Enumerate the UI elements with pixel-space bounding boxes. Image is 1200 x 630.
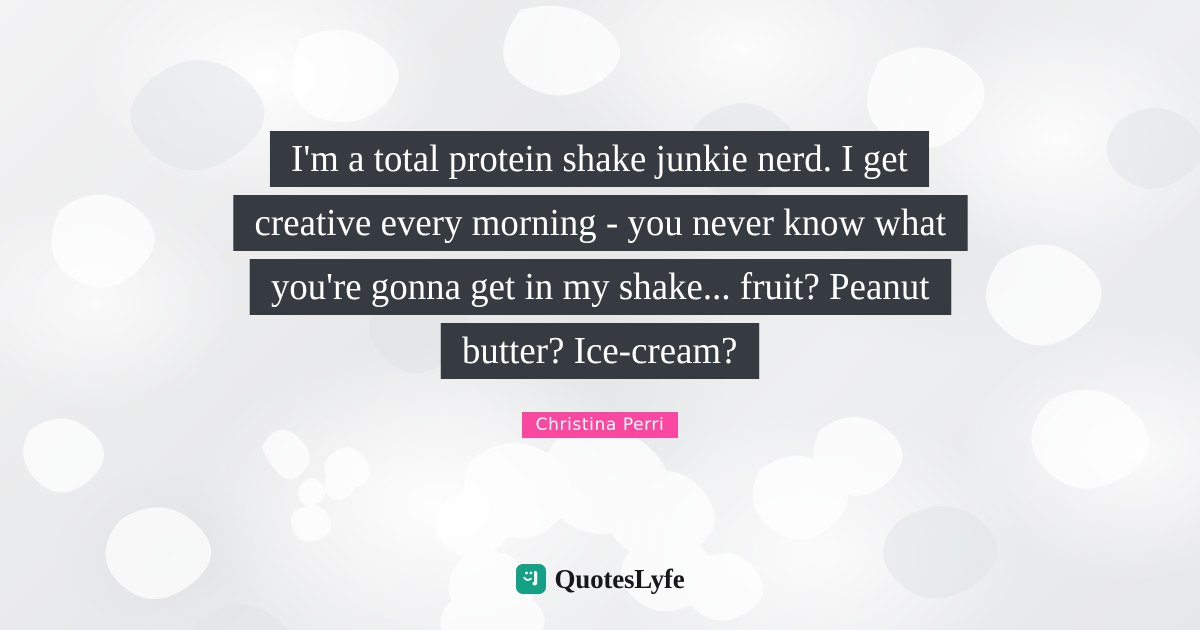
quote-line: you're gonna get in my shake... fruit? P… bbox=[249, 259, 950, 315]
brand-footer: QuotesLyfe bbox=[0, 564, 1200, 594]
quote-card: I'm a total protein shake junkie nerd. I… bbox=[0, 0, 1200, 630]
brand-wordmark: QuotesLyfe bbox=[555, 564, 685, 594]
author-attribution: Christina Perri bbox=[0, 412, 1200, 438]
quote-line: I'm a total protein shake junkie nerd. I… bbox=[270, 131, 929, 187]
quote-text-block: I'm a total protein shake junkie nerd. I… bbox=[0, 131, 1200, 379]
quote-smiley-icon bbox=[516, 564, 546, 594]
quote-line: creative every morning - you never know … bbox=[233, 195, 967, 251]
quote-line: butter? Ice-cream? bbox=[441, 323, 759, 379]
author-name-badge: Christina Perri bbox=[522, 412, 679, 438]
